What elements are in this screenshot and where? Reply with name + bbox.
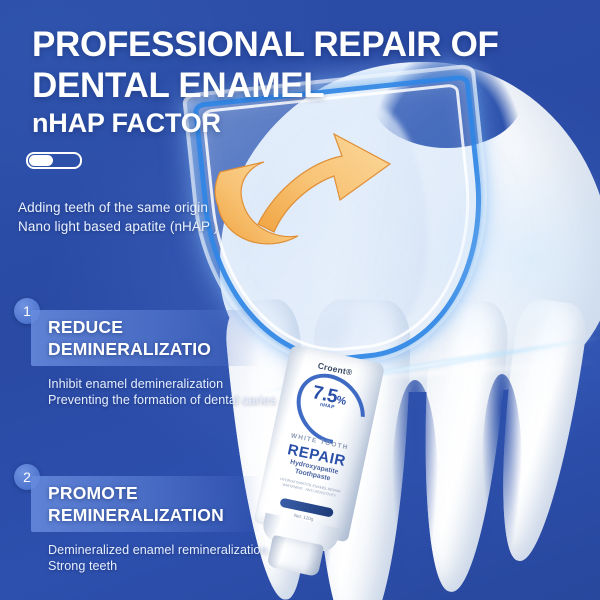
- feature-description: Demineralized enamel remineralization St…: [48, 542, 320, 574]
- feature-title-line-2: REMINERALIZATION: [48, 504, 298, 526]
- feature-title-line-2: DEMINERALIZATIO: [48, 338, 298, 360]
- feature-desc-line-2: Strong teeth: [48, 558, 320, 574]
- feature-desc-line-1: Inhibit enamel demineralization: [48, 376, 320, 392]
- product-poster: Croent® 7.5% nHAP WHITE TOOTH REPAIR Hyd…: [0, 0, 600, 600]
- lead-line-2: Nano light based apatite (nHAP ): [18, 217, 218, 236]
- lead-paragraph: Adding teeth of the same origin Nano lig…: [18, 198, 218, 236]
- feature-title: REDUCE DEMINERALIZATIO: [48, 316, 298, 360]
- headline-line-2: DENTAL ENAMEL: [32, 65, 572, 106]
- subheadline: nHAP FACTOR: [32, 108, 221, 139]
- headline-line-1: PROFESSIONAL REPAIR OF: [32, 24, 572, 65]
- repair-arrow-icon: [214, 128, 394, 254]
- feature-title: PROMOTE REMINERALIZATION: [48, 482, 298, 526]
- feature-title-line-1: REDUCE: [48, 316, 298, 338]
- toggle-decoration: [26, 152, 82, 169]
- feature-title-line-1: PROMOTE: [48, 482, 298, 504]
- lead-line-1: Adding teeth of the same origin: [18, 198, 218, 217]
- feature-description: Inhibit enamel demineralization Preventi…: [48, 376, 320, 408]
- tooth-root-gap: [392, 380, 438, 590]
- tooth-root-gap: [482, 374, 522, 560]
- page-title: PROFESSIONAL REPAIR OF DENTAL ENAMEL: [32, 24, 572, 106]
- feature-desc-line-1: Demineralized enamel remineralization: [48, 542, 320, 558]
- feature-desc-line-2: Preventing the formation of dental carie…: [48, 392, 320, 408]
